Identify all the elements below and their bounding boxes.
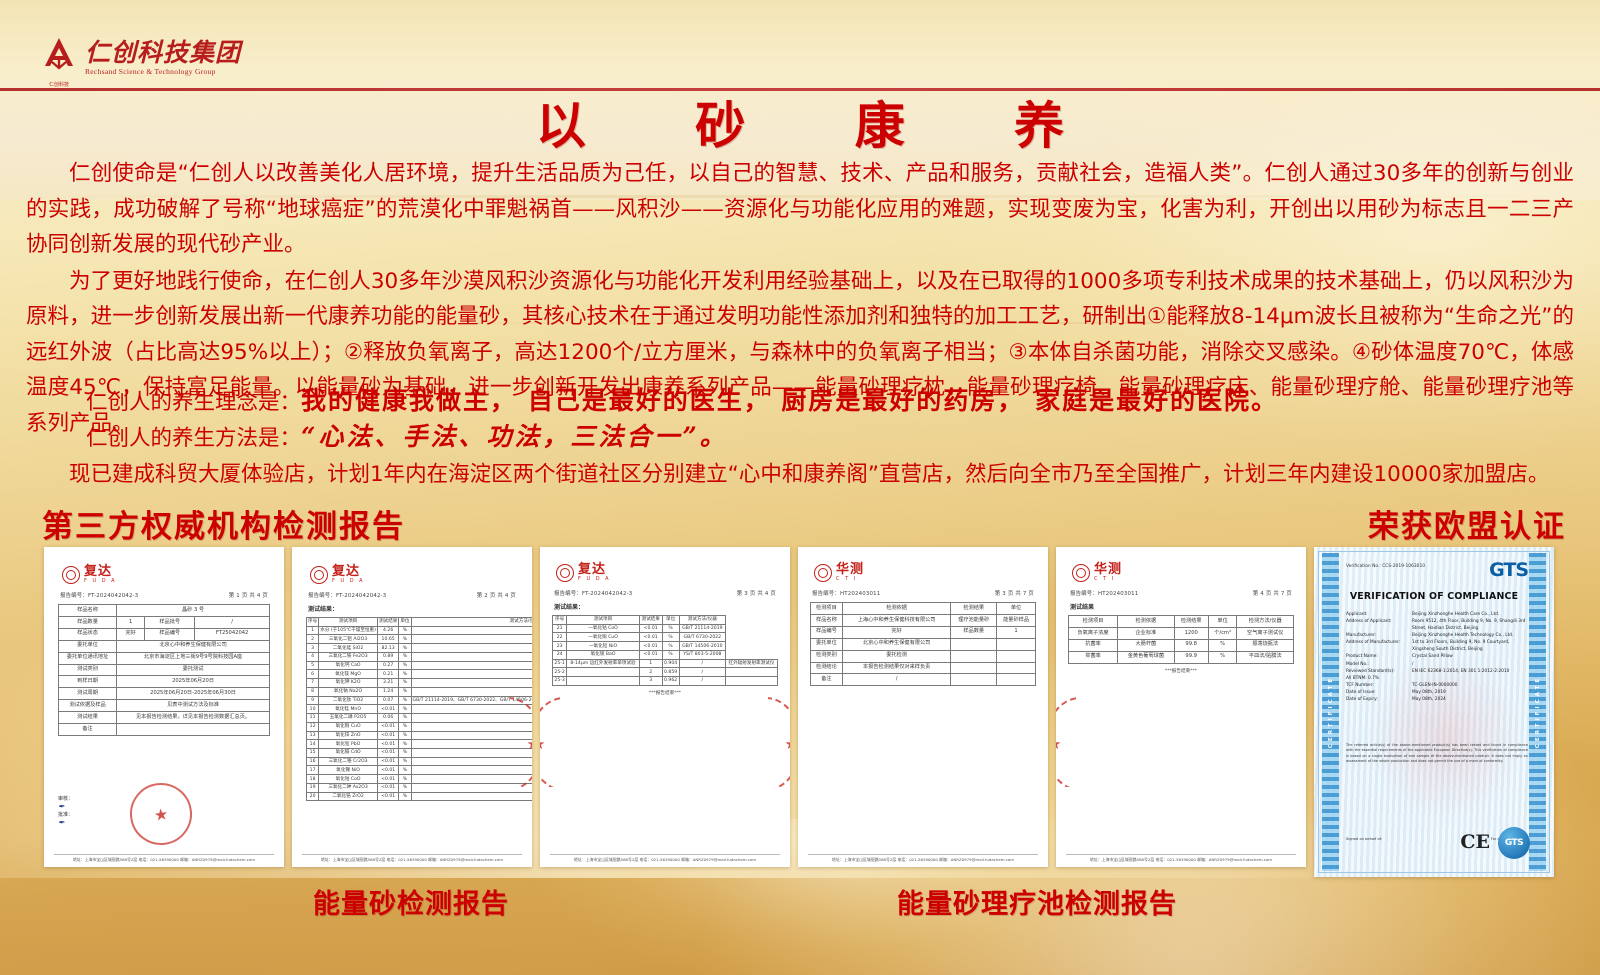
table-cell: / <box>679 677 725 686</box>
table-row: 1水分 (于105℃干燥至恒重)4.26% <box>307 626 533 635</box>
certificate-paragraph: The referred article(s) of the above-men… <box>1346 743 1528 764</box>
table-cell: GB/T 6730-2022 <box>679 633 725 642</box>
report-meta: 报告编号：FT-2024042042-3 第 1 页 共 4 页 <box>60 591 268 599</box>
table-row: 抗菌率大肠杆菌99.8%振荡烧瓶法 <box>1069 639 1294 651</box>
certificate-field-key: Address of Applicant: <box>1346 618 1408 632</box>
table-cell <box>997 662 1036 674</box>
table-row: 7氧化钾 K2O3.21% <box>307 679 533 688</box>
table-cell: 样品编号 <box>811 626 843 638</box>
table-cell: 理疗池能量砂 <box>951 614 997 626</box>
table-cell: 9 <box>307 696 319 705</box>
table-row: 23一氧化铅 NiO<0.01%GB/T 14506-2010 <box>553 642 778 651</box>
fuda-logo: 复达 F U D A <box>310 565 518 584</box>
seal-arc <box>768 697 790 787</box>
table-cell <box>411 652 532 661</box>
table-cell: 三氧化二铬 Cr2O3 <box>319 757 378 766</box>
results-heading: 测试结果： <box>554 602 776 611</box>
caption-energy-sand-report: 能量砂检测报告 <box>313 882 509 921</box>
table-cell: % <box>399 670 411 679</box>
table-cell <box>411 740 532 749</box>
reviewer-signature: ✒ <box>58 802 73 811</box>
table-cell: 10.65 <box>377 635 398 644</box>
table-cell: 19 <box>307 783 319 792</box>
table-cell: 五氧化二磷 P2O5 <box>319 714 378 723</box>
column-header: 测试项目 <box>319 618 378 627</box>
certificate-field-value: Room 9512, 4th Floor, Building 9, No. 9,… <box>1412 618 1528 632</box>
fuda-seal-icon <box>62 566 80 584</box>
table-cell: % <box>399 714 411 723</box>
table-cell: 氧化铅 PbO <box>319 740 378 749</box>
certificate-field-key: Reviewed Standard(s): <box>1346 668 1408 675</box>
fuda-logo: 复达 F U D A <box>62 565 270 584</box>
star-icon: ★ <box>540 735 545 753</box>
table-cell: 0.89 <box>377 652 398 661</box>
table-cell <box>951 674 997 686</box>
table-cell <box>411 775 532 784</box>
table-cell <box>411 757 532 766</box>
cell-value: 1 <box>117 616 145 628</box>
table-row: 13氧化锌 ZnO<0.01% <box>307 731 533 740</box>
table-cell: % <box>399 731 411 740</box>
header-divider <box>0 88 1600 91</box>
column-header: 测试结果 <box>377 618 398 627</box>
table-row: 19三氧化二砷 As2O3<0.01% <box>307 783 533 792</box>
cell-key: 委托单位通讯地址 <box>59 652 117 664</box>
table-cell: 1.24 <box>377 687 398 696</box>
table-row: 委托单位北京心中和养生保健有限公司 <box>59 640 270 652</box>
table-row: 25-18-14μm 远红外发射率单项试验10.904/红外辐射发射率测试仪 <box>553 659 778 668</box>
table-row: 测试周期2025年06月20日-2025年06月30日 <box>59 688 270 700</box>
cell-value: 2025年06月20日 <box>117 676 270 688</box>
document-gts-certificate[interactable]: CERTIFICATE CERTIFICATE GTS Verification… <box>1314 547 1554 877</box>
table-cell: <0.01 <box>377 722 398 731</box>
ce-mark-icon: CE <box>1460 831 1490 853</box>
mountain-triangle-icon: 仁创科技 <box>40 36 78 76</box>
table-row: 25-220.859/ <box>553 668 778 677</box>
paragraph-expansion-plan: 现已建成科贸大厦体验店，计划1年内在海淀区两个街道社区分别建立“心中和康养阁”直… <box>26 458 1574 492</box>
certificate-field-value: TC-GLEN-IN-0000000 <box>1412 682 1528 689</box>
table-row: 测试结果见本报告检测结果，详见本报告检测数据汇总页。 <box>59 712 270 724</box>
certificate-field-key: Model No.: <box>1346 661 1408 668</box>
table-row: 测试依据及样品见表中测试方法及标准 <box>59 700 270 712</box>
table-cell <box>951 662 997 674</box>
table-row: 委托单位北京心中和养生保健有限公司 <box>811 638 1036 650</box>
table-cell: % <box>399 775 411 784</box>
table-row: 样品编号完好样品数量1 <box>811 626 1036 638</box>
table-cell: <0.01 <box>377 766 398 775</box>
cell-value: 见本报告检测结果，详见本报告检测数据汇总页。 <box>117 712 270 724</box>
cell-value: 晶砂 3 号 <box>117 605 270 617</box>
table-cell: 0.27 <box>377 661 398 670</box>
column-header: 单位 <box>399 618 411 627</box>
table-cell: 24 <box>553 650 567 659</box>
column-header: 单位 <box>662 616 679 625</box>
table-cell: % <box>662 642 679 651</box>
signature-block: 审核： ✒ 批准： ✒ <box>58 795 73 827</box>
report-end-note: ***报告结束*** <box>552 690 778 696</box>
table-cell: 抑菌率 <box>1069 651 1118 663</box>
table-cell: % <box>399 661 411 670</box>
table-cell: 氧化镁 MgO <box>319 670 378 679</box>
table-cell: 空气离子测试仪 <box>1237 627 1294 639</box>
seal-arc <box>1056 697 1078 787</box>
table-cell: 三氧化二铁 Fe2O3 <box>319 652 378 661</box>
table-cell <box>997 638 1036 650</box>
table-cell: 2 <box>307 635 319 644</box>
table-cell <box>411 670 532 679</box>
certificate-field-value: May 08th, 2024 <box>1412 696 1528 703</box>
table-cell <box>411 679 532 688</box>
table-cell: / <box>842 674 950 686</box>
column-header: 测试方法/仪器 <box>679 616 725 625</box>
table-cell: % <box>1208 639 1237 651</box>
report-meta: 报告编号：FT-2024042042-3 第 3 页 共 4 页 <box>554 589 776 597</box>
table-cell: 6 <box>307 670 319 679</box>
column-header: 检测项目 <box>811 603 843 615</box>
table-cell: GB/T 21114-2019、GB/T 6730-2022、GB/T 1450… <box>411 696 532 705</box>
table-row: 检测结论本报告检测结果仅对来样负责 <box>811 662 1036 674</box>
table-cell: 氧化钡 BaO <box>567 650 640 659</box>
table-cell: % <box>399 644 411 653</box>
table-cell: 二氧化锆 ZrO2 <box>319 792 378 801</box>
table-cell <box>725 677 777 686</box>
table-cell: 一氧化铅 NiO <box>567 642 640 651</box>
table-cell <box>411 783 532 792</box>
table-cell: 25-2 <box>553 668 567 677</box>
cell-value: 见表中测试方法及标准 <box>117 700 270 712</box>
table-cell: 0.21 <box>377 670 398 679</box>
table-cell: 11 <box>307 714 319 723</box>
certificate-side-text: CERTIFICATE <box>1328 676 1334 748</box>
table-cell: % <box>399 687 411 696</box>
table-cell: <0.01 <box>377 705 398 714</box>
table-cell: % <box>399 626 411 635</box>
table-cell: 二氧化硅 SiO2 <box>319 644 378 653</box>
table-cell: 一氧化钴 CoO <box>567 624 640 633</box>
table-cell: 本报告检测结果仅对来样负责 <box>842 662 950 674</box>
table-row: 5氧化钙 CaO0.27% <box>307 661 533 670</box>
table-cell: % <box>399 652 411 661</box>
report-meta: 报告编号：HT202403011 第 3 页 共 7 页 <box>812 589 1034 597</box>
document-fuda-report-3[interactable]: 复达 F U D A 报告编号：FT-2024042042-3 第 3 页 共 … <box>540 547 790 867</box>
table-cell: 18 <box>307 775 319 784</box>
table-header-row: 检测项目 检测依据 检测结果 单位 <box>811 603 1036 615</box>
table-cell: 23 <box>553 642 567 651</box>
creed-method: 仁创人的养生方法是：“心法、手法、功法，三法合一”。 <box>26 420 1574 456</box>
lab-name: 复达 <box>84 565 117 578</box>
huace-seal-icon <box>1072 564 1090 582</box>
lab-name: 华测 <box>1094 563 1122 576</box>
table-cell: % <box>399 696 411 705</box>
verification-number: Verification No.: CCS-2019-1063010 <box>1346 564 1425 569</box>
creed-philosophy-label: 仁创人的养生理念是： <box>86 390 301 415</box>
table-cell: 2 <box>639 668 662 677</box>
brand-name-en: Rechsand Science & Technology Group <box>85 67 241 76</box>
table-cell: 平皿法/贴膜法 <box>1237 651 1294 663</box>
table-cell <box>411 731 532 740</box>
table-cell <box>411 766 532 775</box>
table-cell: 1 <box>639 659 662 668</box>
cell-key: 测试依据及样品 <box>59 700 117 712</box>
table-cell: 8 <box>307 687 319 696</box>
report-end-note: ***报告结束*** <box>1068 668 1294 674</box>
report-number: 报告编号：HT202403011 <box>1070 589 1138 597</box>
table-row: 抑菌率金黄色葡萄球菌99.9%平皿法/贴膜法 <box>1069 651 1294 663</box>
huace-logo: 华测 C T I <box>814 563 1036 582</box>
report-number: 报告编号：FT-2024042042-3 <box>60 591 138 599</box>
table-cell <box>411 644 532 653</box>
table-header-row: 序号 测试项目 测试结果 单位 测试方法/仪器 <box>307 618 533 627</box>
table-cell: <0.01 <box>377 749 398 758</box>
report-page: 第 3 页 共 4 页 <box>737 589 776 597</box>
column-header: 检测依据 <box>1118 616 1175 628</box>
table-cell: 抗菌率 <box>1069 639 1118 651</box>
logo-submark-text: 仁创科技 <box>40 81 78 88</box>
document-gallery: 复达 F U D A 报告编号：FT-2024042042-3 第 1 页 共 … <box>44 547 1554 877</box>
certificate-field-row: Reviewed Standard(s):EN IEC 62368-1:2014… <box>1346 668 1528 675</box>
certificate-field-row: Address of Applicant:Room 9512, 4th Floo… <box>1346 618 1528 632</box>
cell-value: / <box>195 616 270 628</box>
table-cell: 20 <box>307 792 319 801</box>
lab-name-en: F U D A <box>332 579 365 584</box>
table-cell: 0.06 <box>377 714 398 723</box>
certificate-field-row: Address of Manufacturer:1st to 3rd Floor… <box>1346 639 1528 653</box>
table-row: 10氧化锰 MnO<0.01% <box>307 705 533 714</box>
table-row: 6氧化镁 MgO0.21% <box>307 670 533 679</box>
table-cell: 1 <box>307 626 319 635</box>
table-row: 3二氧化硅 SiO282.13% <box>307 644 533 653</box>
table-cell <box>951 638 997 650</box>
table-row: 24氧化钡 BaO<0.01%YS/T 803-5-2008 <box>553 650 778 659</box>
table-cell: 1200 <box>1174 627 1208 639</box>
table-row: 17氧化镍 NiO<0.01% <box>307 766 533 775</box>
results-heading: 测试结果： <box>308 604 516 613</box>
certificate-field-key: Manufacturer: <box>1346 632 1408 639</box>
table-row: 检测类别委托检测 <box>811 650 1036 662</box>
table-cell: YS/T 803-5-2008 <box>679 650 725 659</box>
document-footer: 地址：上海市宝山区城银路588号2层 电话：021-56390000 邮箱：AN… <box>1066 854 1296 862</box>
certificate-side-text: CERTIFICATE <box>1535 676 1541 748</box>
table-row: 测试类别委托测试 <box>59 664 270 676</box>
table-cell: 22 <box>553 633 567 642</box>
table-cell: % <box>399 705 411 714</box>
certificate-field-value: Beijing Xinzhonghe Health Care Co., Ltd. <box>1412 611 1528 618</box>
brand-logo[interactable]: 仁创科技 仁创科技集团 Rechsand Science & Technolog… <box>40 36 241 76</box>
creed-philosophy-text: 我的健康我做主， 自己是最好的医生， 厨房是最好的药房， 家庭是最好的医院。 <box>301 386 1278 415</box>
creed-method-text: “心法、手法、功法，三法合一”。 <box>301 422 728 451</box>
table-cell: <0.01 <box>377 757 398 766</box>
report-number: 报告编号：FT-2024042042-3 <box>554 589 632 597</box>
table-row: 到样日期2025年06月20日 <box>59 676 270 688</box>
gts-badge-icon: GTS <box>1498 827 1530 859</box>
table-cell <box>997 650 1036 662</box>
lab-name: 复达 <box>578 563 611 576</box>
report-meta: 报告编号：FT-2024042042-3 第 2 页 共 4 页 <box>308 591 516 599</box>
column-header: 检测结果 <box>1174 616 1208 628</box>
table-cell: <0.01 <box>639 642 662 651</box>
document-fuda-report-1[interactable]: 复达 F U D A 报告编号：FT-2024042042-3 第 1 页 共 … <box>44 547 284 867</box>
table-cell: / <box>679 668 725 677</box>
table-cell: 16 <box>307 757 319 766</box>
table-row: 15氧化镉 CdO<0.01% <box>307 749 533 758</box>
table-cell <box>725 668 777 677</box>
results-table: 检测项目 检测依据 检测结果 单位 检测方法/仪器 负氧离子浓度企业标准1200… <box>1068 615 1294 664</box>
table-cell <box>411 635 532 644</box>
table-row: 4三氧化二铁 Fe2O30.89% <box>307 652 533 661</box>
report-info-table: 检测项目 检测依据 检测结果 单位 样品名称上海心中和养生保健科技有限公司理疗池… <box>810 602 1036 686</box>
certificate-field-key: TCF Number: <box>1346 682 1408 689</box>
table-cell: 样品数量 <box>951 626 997 638</box>
table-cell: 上海心中和养生保健科技有限公司 <box>842 614 950 626</box>
table-cell: % <box>662 650 679 659</box>
column-header: 测试方法/仪器 <box>411 618 532 627</box>
table-cell: 3 <box>639 677 662 686</box>
report-page: 第 1 页 共 4 页 <box>229 591 268 599</box>
table-row: 9二氧化钛 TiO20.07%GB/T 21114-2019、GB/T 6730… <box>307 696 533 705</box>
column-header: 序号 <box>307 618 319 627</box>
star-icon: ★ <box>1056 735 1061 753</box>
cell-key: 测试类别 <box>59 664 117 676</box>
table-cell: 氧化钙 CaO <box>319 661 378 670</box>
table-cell: 振荡烧瓶法 <box>1237 639 1294 651</box>
table-cell: 1 <box>997 626 1036 638</box>
table-cell: % <box>1208 651 1237 663</box>
certificate-field-value: / <box>1412 661 1528 668</box>
table-cell: 21 <box>553 624 567 633</box>
cell-key: 委托单位 <box>59 640 117 652</box>
report-meta: 报告编号：HT202403011 第 4 页 共 7 页 <box>1070 589 1292 597</box>
seal-arc <box>540 697 562 787</box>
certificate-field-key: Date of Issue: <box>1346 689 1408 696</box>
table-cell: 13 <box>307 731 319 740</box>
table-row: 样品数量1样品批号/ <box>59 616 270 628</box>
table-row: 负氧离子浓度企业标准1200个/cm³空气离子测试仪 <box>1069 627 1294 639</box>
table-row: 20二氧化锆 ZrO2<0.01% <box>307 792 533 801</box>
report-page: 第 4 页 共 7 页 <box>1253 589 1292 597</box>
table-cell: <0.01 <box>377 783 398 792</box>
table-row: 22一氧化铜 CuO<0.01%GB/T 6730-2022 <box>553 633 778 642</box>
table-row: 12氧化铜 CuO<0.01% <box>307 722 533 731</box>
cell-value: 委托测试 <box>117 664 270 676</box>
table-cell: 氧化镉 CdO <box>319 749 378 758</box>
table-row: 2三氧化二铝 Al2O310.65% <box>307 635 533 644</box>
certificate-field-row: All BTNM: 0.7% <box>1346 675 1528 682</box>
cell-key: 样品名称 <box>59 605 117 617</box>
table-cell: 25-3 <box>553 677 567 686</box>
table-cell <box>411 792 532 801</box>
document-fuda-report-2[interactable]: 复达 F U D A 报告编号：FT-2024042042-3 第 2 页 共 … <box>292 547 532 867</box>
table-cell: 二氧化钛 TiO2 <box>319 696 378 705</box>
table-cell: <0.01 <box>377 731 398 740</box>
edge-seal-stamp-right: ★ <box>768 697 790 787</box>
table-cell: 北京心中和养生保健有限公司 <box>842 638 950 650</box>
table-cell <box>997 674 1036 686</box>
official-seal-stamp: ★ <box>126 779 196 849</box>
table-cell: 氧化铜 CuO <box>319 722 378 731</box>
certificate-field-key: Date of Expiry: <box>1346 696 1408 703</box>
lab-name-en: C T I <box>836 577 864 582</box>
creed-method-label: 仁创人的养生方法是： <box>86 426 301 451</box>
paragraph-mission: 仁创使命是“仁创人以改善美化人居环境，提升生活品质为己任，以自己的智慧、技术、产… <box>26 156 1574 263</box>
table-row: 样品名称晶砂 3 号 <box>59 605 270 617</box>
certificate-fields: Applicant:Beijing Xinzhonghe Health Care… <box>1346 611 1528 703</box>
table-row: 21一氧化钴 CoO<0.01%GB/T 21114-2019 <box>553 624 778 633</box>
edge-seal-stamp-left: ★ <box>540 697 562 787</box>
table-cell: <0.01 <box>639 650 662 659</box>
column-header: 序号 <box>553 616 567 625</box>
certificate-field-value: 1st to 3rd Floors, Building 9, No. 9 Cou… <box>1412 639 1528 653</box>
table-cell: GB/T 14506-2010 <box>679 642 725 651</box>
table-cell: 检测类别 <box>811 650 843 662</box>
table-cell: 完好 <box>842 626 950 638</box>
table-cell: / <box>679 659 725 668</box>
table-cell: 金黄色葡萄球菌 <box>1118 651 1175 663</box>
column-header: 检测方法/仪器 <box>1237 616 1294 628</box>
section-heading-reports: 第三方权威机构检测报告 <box>42 501 405 546</box>
table-cell: % <box>399 766 411 775</box>
cell-key: 样品批号 <box>145 616 195 628</box>
table-cell: 0.904 <box>662 659 679 668</box>
table-cell: % <box>399 783 411 792</box>
table-cell: 备注 <box>811 674 843 686</box>
results-table: 序号 测试项目 测试结果 单位 测试方法/仪器 1水分 (于105℃干燥至恒重)… <box>306 617 532 801</box>
table-cell: 4 <box>307 652 319 661</box>
certificate-field-row: Manufacturer:Beijing Xinzhonghe Health T… <box>1346 632 1528 639</box>
cell-key: 测试结果 <box>59 712 117 724</box>
lab-name-en: F U D A <box>84 579 117 584</box>
table-cell <box>567 668 640 677</box>
column-header: 检测结果 <box>951 603 997 615</box>
table-cell <box>411 714 532 723</box>
certificate-field-value: Crystal Sand Pillow <box>1412 653 1528 660</box>
table-cell: 个/cm³ <box>1208 627 1237 639</box>
table-cell <box>411 626 532 635</box>
table-cell: 氧化镍 NiO <box>319 766 378 775</box>
table-row: 备注 <box>59 724 270 736</box>
table-cell: 17 <box>307 766 319 775</box>
column-header: 检测项目 <box>1069 616 1118 628</box>
table-row: 委托单位通讯地址北京市海淀区上地三街9号9号院科技园A座 <box>59 652 270 664</box>
certificate-field-value: Beijing Xinzhonghe Health Technology Co.… <box>1412 632 1528 639</box>
table-cell: 氧化钠 Na2O <box>319 687 378 696</box>
table-cell: % <box>662 624 679 633</box>
cell-value: 完好 <box>117 628 145 640</box>
document-huace-report-1[interactable]: 华测 C T I 报告编号：HT202403011 第 3 页 共 7 页 检测… <box>798 547 1048 867</box>
table-row: 14氧化铅 PbO<0.01% <box>307 740 533 749</box>
document-footer: 地址：上海市宝山区城银路588号2层 电话：021-56390000 邮箱：AN… <box>808 854 1038 862</box>
document-huace-report-2[interactable]: 华测 C T I 报告编号：HT202403011 第 4 页 共 7 页 测试… <box>1056 547 1306 867</box>
signed-by-label: Signed on behalf of: <box>1346 837 1382 841</box>
cell-key: 样品状态 <box>59 628 117 640</box>
table-cell: 氧化钴 CoO <box>319 775 378 784</box>
lab-name-en: F U D A <box>578 577 611 582</box>
table-cell: 能量砂样品 <box>997 614 1036 626</box>
table-cell: 3.21 <box>377 679 398 688</box>
table-row: 样品名称上海心中和养生保健科技有限公司理疗池能量砂能量砂样品 <box>811 614 1036 626</box>
table-cell <box>951 650 997 662</box>
table-row: 样品状态完好样品编号FT25042042 <box>59 628 270 640</box>
certificate-field-row: Product Name:Crystal Sand Pillow <box>1346 653 1528 660</box>
table-cell: % <box>662 633 679 642</box>
table-cell: 三氧化二铝 Al2O3 <box>319 635 378 644</box>
certificate-field-value: EN IEC 62368-1:2014, EN 301 1:2012-2:201… <box>1412 668 1528 675</box>
table-cell: 委托单位 <box>811 638 843 650</box>
table-header-row: 序号 测试项目 测试结果 单位 测试方法/仪器 <box>553 616 778 625</box>
column-header: 测试结果 <box>639 616 662 625</box>
table-cell: 4.26 <box>377 626 398 635</box>
table-cell: 5 <box>307 661 319 670</box>
table-cell: 0.07 <box>377 696 398 705</box>
